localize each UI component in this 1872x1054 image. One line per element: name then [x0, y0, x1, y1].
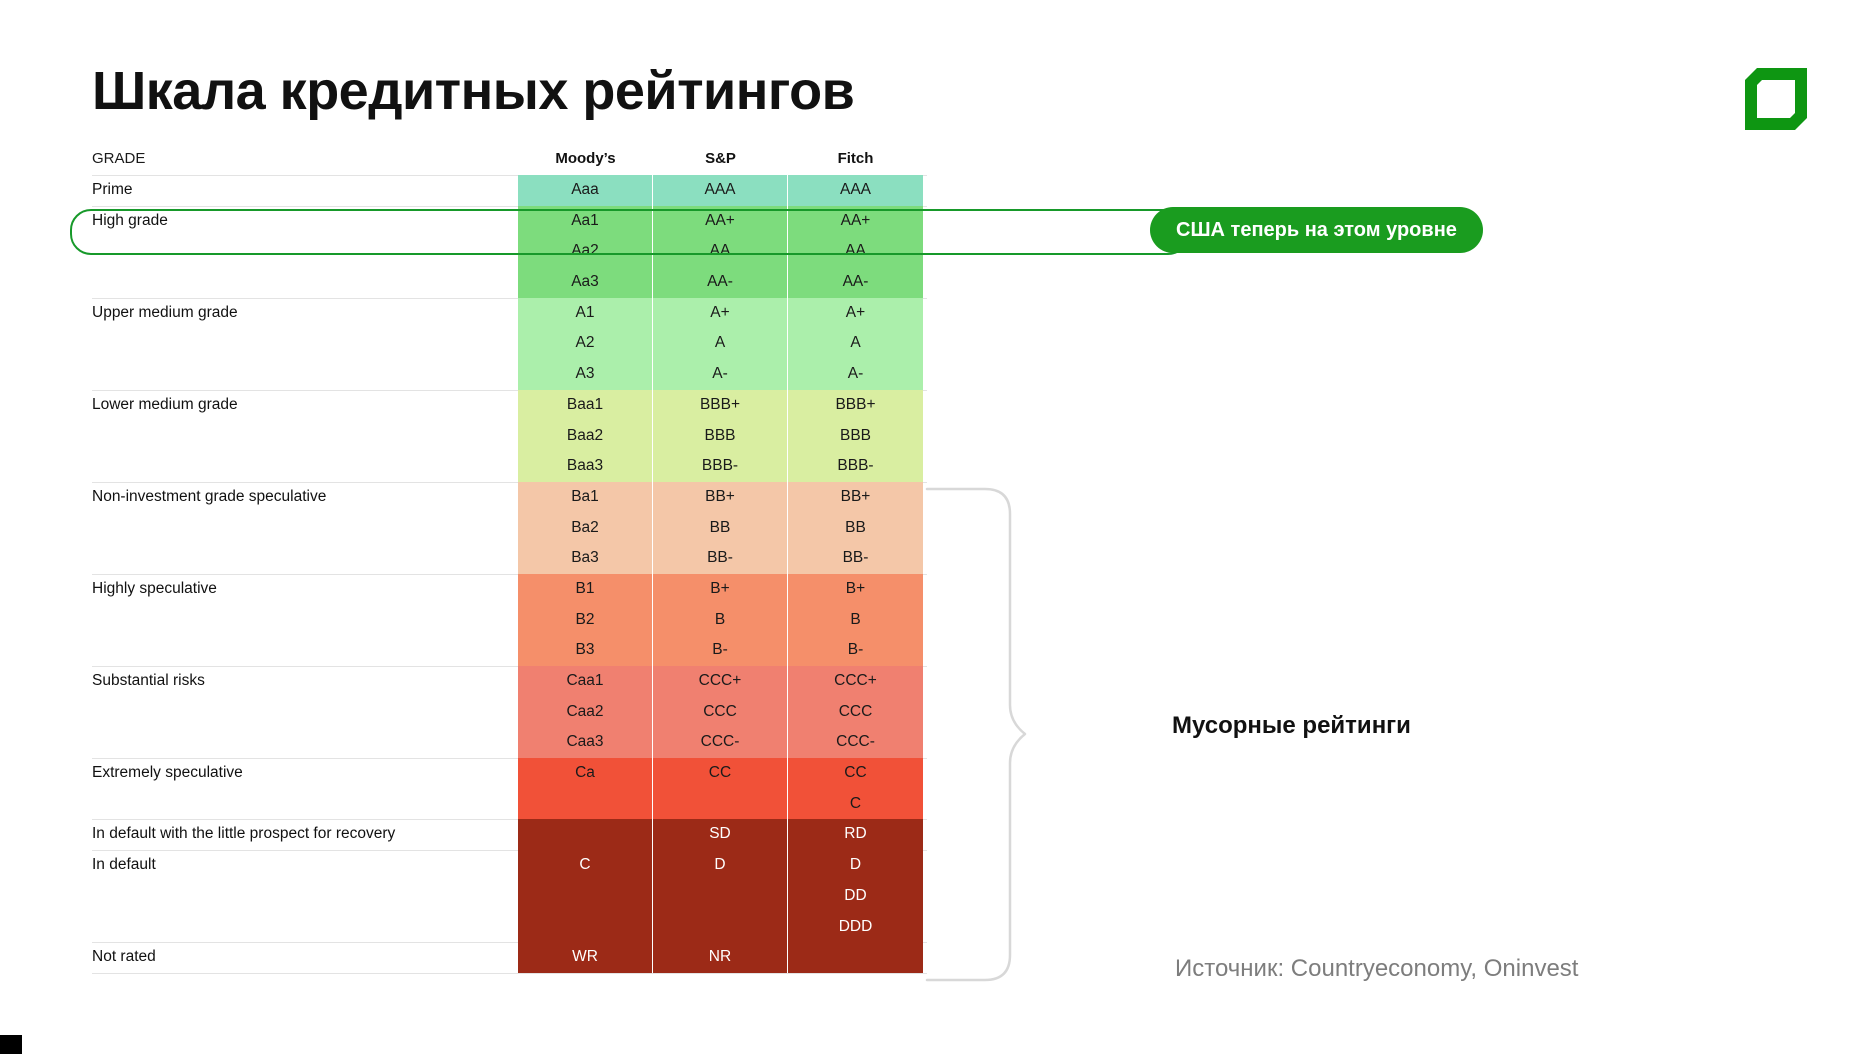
cell-sp: B+ [653, 574, 788, 605]
table-row: Highly speculativeB1B+B+ [92, 574, 927, 605]
rating-cells: DD [518, 881, 927, 912]
rating-cells: Ba2BBBB [518, 513, 927, 544]
column-header-fitch: Fitch [788, 150, 923, 167]
cell-moodys: Ba2 [518, 513, 653, 544]
cell-moodys: A1 [518, 298, 653, 329]
cell-fitch: CCC- [788, 727, 923, 758]
cell-sp: A+ [653, 298, 788, 329]
cell-moodys: A2 [518, 328, 653, 359]
cell-sp: CCC [653, 697, 788, 728]
table-row: Caa3CCC-CCC- [92, 727, 927, 758]
cell-moodys: B2 [518, 605, 653, 636]
table-row: A2AA [92, 328, 927, 359]
cell-moodys: C [518, 850, 653, 881]
grade-label: Extremely speculative [92, 758, 243, 789]
table-row: High gradeAa1AA+AA+ [92, 206, 927, 237]
cell-fitch: C [788, 789, 923, 820]
table-body: PrimeAaaAAAAAAHigh gradeAa1AA+AA+Aa2AAAA… [92, 175, 927, 973]
cell-moodys: Caa3 [518, 727, 653, 758]
column-header-sp: S&P [653, 150, 788, 167]
cell-sp: A [653, 328, 788, 359]
rating-cells: Baa1BBB+BBB+ [518, 390, 927, 421]
cell-sp: BB+ [653, 482, 788, 513]
table-row: DD [92, 881, 927, 912]
cell-fitch: CCC [788, 697, 923, 728]
rating-cells: A2AA [518, 328, 927, 359]
cell-fitch: B- [788, 635, 923, 666]
grade-label: Lower medium grade [92, 390, 238, 421]
grade-label: Not rated [92, 942, 156, 973]
grade-label: Non-investment grade speculative [92, 482, 326, 513]
cell-moodys: B1 [518, 574, 653, 605]
cell-moodys: Baa3 [518, 451, 653, 482]
cell-sp: A- [653, 359, 788, 390]
cell-fitch [788, 942, 923, 973]
cell-fitch: B [788, 605, 923, 636]
rating-cells: CDD [518, 850, 927, 881]
cell-moodys [518, 819, 653, 850]
table-bottom-rule [92, 973, 927, 974]
table-row: In default with the little prospect for … [92, 819, 927, 850]
table-row: Not ratedWRNR [92, 942, 927, 973]
rating-cells: B1B+B+ [518, 574, 927, 605]
cell-moodys [518, 912, 653, 943]
grade-label: Substantial risks [92, 666, 205, 697]
cell-fitch: CCC+ [788, 666, 923, 697]
cell-fitch: BB- [788, 543, 923, 574]
cell-fitch: BBB- [788, 451, 923, 482]
page-title: Шкала кредитных рейтингов [92, 60, 854, 122]
cell-sp: B- [653, 635, 788, 666]
cell-fitch: AAA [788, 175, 923, 206]
rating-cells: Aa2AAAA [518, 236, 927, 267]
cell-sp: NR [653, 942, 788, 973]
rating-cells: Ba1BB+BB+ [518, 482, 927, 513]
rating-cells: Caa1CCC+CCC+ [518, 666, 927, 697]
cell-fitch: DD [788, 881, 923, 912]
cell-moodys: Baa1 [518, 390, 653, 421]
table-row: DDD [92, 912, 927, 943]
cell-fitch: AA- [788, 267, 923, 298]
cell-sp: AA- [653, 267, 788, 298]
cell-sp [653, 789, 788, 820]
table-row: Ba3BB-BB- [92, 543, 927, 574]
corner-marker [0, 1035, 22, 1054]
cell-moodys: Ba3 [518, 543, 653, 574]
grade-label: Highly speculative [92, 574, 217, 605]
rating-cells: AaaAAAAAA [518, 175, 927, 206]
cell-fitch: BBB [788, 421, 923, 452]
rating-cells: Baa2BBBBBB [518, 421, 927, 452]
rating-cells: A3A-A- [518, 359, 927, 390]
cell-sp: BB- [653, 543, 788, 574]
cell-fitch: CC [788, 758, 923, 789]
cell-sp: SD [653, 819, 788, 850]
rating-cells: Ba3BB-BB- [518, 543, 927, 574]
cell-sp: CCC- [653, 727, 788, 758]
table-row: Aa2AAAA [92, 236, 927, 267]
cell-fitch: A- [788, 359, 923, 390]
cell-moodys: WR [518, 942, 653, 973]
rating-cells: Caa2CCCCCC [518, 697, 927, 728]
rating-cells: Caa3CCC-CCC- [518, 727, 927, 758]
table-row: Upper medium gradeA1A+A+ [92, 298, 927, 329]
rating-cells: Aa1AA+AA+ [518, 206, 927, 237]
cell-sp: BBB [653, 421, 788, 452]
rating-cells: Baa3BBB-BBB- [518, 451, 927, 482]
cell-fitch: B+ [788, 574, 923, 605]
cell-sp [653, 912, 788, 943]
table-row: Extremely speculativeCaCCCC [92, 758, 927, 789]
grade-label: Prime [92, 175, 132, 206]
table-row: C [92, 789, 927, 820]
cell-moodys: Baa2 [518, 421, 653, 452]
cell-sp: CCC+ [653, 666, 788, 697]
cell-moodys [518, 881, 653, 912]
rating-cells: SDRD [518, 819, 927, 850]
cell-sp [653, 881, 788, 912]
cell-moodys: Ca [518, 758, 653, 789]
grade-label: In default [92, 850, 156, 881]
cell-moodys: Aa3 [518, 267, 653, 298]
credit-rating-table: GRADE Moody’s S&P Fitch PrimeAaaAAAAAAHi… [92, 150, 927, 973]
table-row: B2BB [92, 605, 927, 636]
rating-cells: Aa3AA-AA- [518, 267, 927, 298]
grade-label: Upper medium grade [92, 298, 238, 329]
junk-ratings-bracket-icon [925, 487, 1060, 982]
cell-fitch: BB+ [788, 482, 923, 513]
usa-level-callout-pill: США теперь на этом уровне [1150, 207, 1483, 253]
rating-cells: CaCCCC [518, 758, 927, 789]
cell-moodys: Aa2 [518, 236, 653, 267]
cell-fitch: RD [788, 819, 923, 850]
rating-cells: B2BB [518, 605, 927, 636]
brand-logo-icon [1745, 68, 1807, 130]
rating-cells: C [518, 789, 927, 820]
cell-sp: CC [653, 758, 788, 789]
table-row: Substantial risksCaa1CCC+CCC+ [92, 666, 927, 697]
table-row: PrimeAaaAAAAAA [92, 175, 927, 206]
cell-moodys [518, 789, 653, 820]
cell-fitch: D [788, 850, 923, 881]
column-header-moodys: Moody’s [518, 150, 653, 167]
table-row: Aa3AA-AA- [92, 267, 927, 298]
cell-sp: BBB- [653, 451, 788, 482]
cell-sp: AAA [653, 175, 788, 206]
table-row: A3A-A- [92, 359, 927, 390]
cell-sp: BBB+ [653, 390, 788, 421]
table-row: B3B-B- [92, 635, 927, 666]
column-header-grade: GRADE [92, 150, 145, 167]
table-row: Lower medium gradeBaa1BBB+BBB+ [92, 390, 927, 421]
table-row: Baa3BBB-BBB- [92, 451, 927, 482]
cell-fitch: DDD [788, 912, 923, 943]
cell-sp: AA+ [653, 206, 788, 237]
source-note: Источник: Countryeconomy, Oninvest [1175, 955, 1578, 983]
rating-cells: B3B-B- [518, 635, 927, 666]
cell-fitch: A [788, 328, 923, 359]
cell-sp: AA [653, 236, 788, 267]
junk-ratings-label: Мусорные рейтинги [1172, 712, 1411, 740]
rating-cells: A1A+A+ [518, 298, 927, 329]
cell-moodys: Caa1 [518, 666, 653, 697]
table-row: Baa2BBBBBB [92, 421, 927, 452]
cell-moodys: B3 [518, 635, 653, 666]
slide-root: Шкала кредитных рейтингов GRADE Moody’s … [0, 0, 1872, 1054]
table-header-row: GRADE Moody’s S&P Fitch [92, 150, 927, 175]
cell-fitch: A+ [788, 298, 923, 329]
cell-moodys: Aaa [518, 175, 653, 206]
cell-fitch: AA [788, 236, 923, 267]
rating-cells: WRNR [518, 942, 927, 973]
grade-label: In default with the little prospect for … [92, 819, 395, 850]
cell-sp: D [653, 850, 788, 881]
cell-fitch: BBB+ [788, 390, 923, 421]
table-row: Non-investment grade speculativeBa1BB+BB… [92, 482, 927, 513]
cell-moodys: Aa1 [518, 206, 653, 237]
cell-moodys: A3 [518, 359, 653, 390]
table-row: Ba2BBBB [92, 513, 927, 544]
grade-label: High grade [92, 206, 168, 237]
cell-sp: BB [653, 513, 788, 544]
cell-moodys: Caa2 [518, 697, 653, 728]
table-row: In defaultCDD [92, 850, 927, 881]
cell-sp: B [653, 605, 788, 636]
rating-cells: DDD [518, 912, 927, 943]
cell-moodys: Ba1 [518, 482, 653, 513]
cell-fitch: BB [788, 513, 923, 544]
table-row: Caa2CCCCCC [92, 697, 927, 728]
cell-fitch: AA+ [788, 206, 923, 237]
